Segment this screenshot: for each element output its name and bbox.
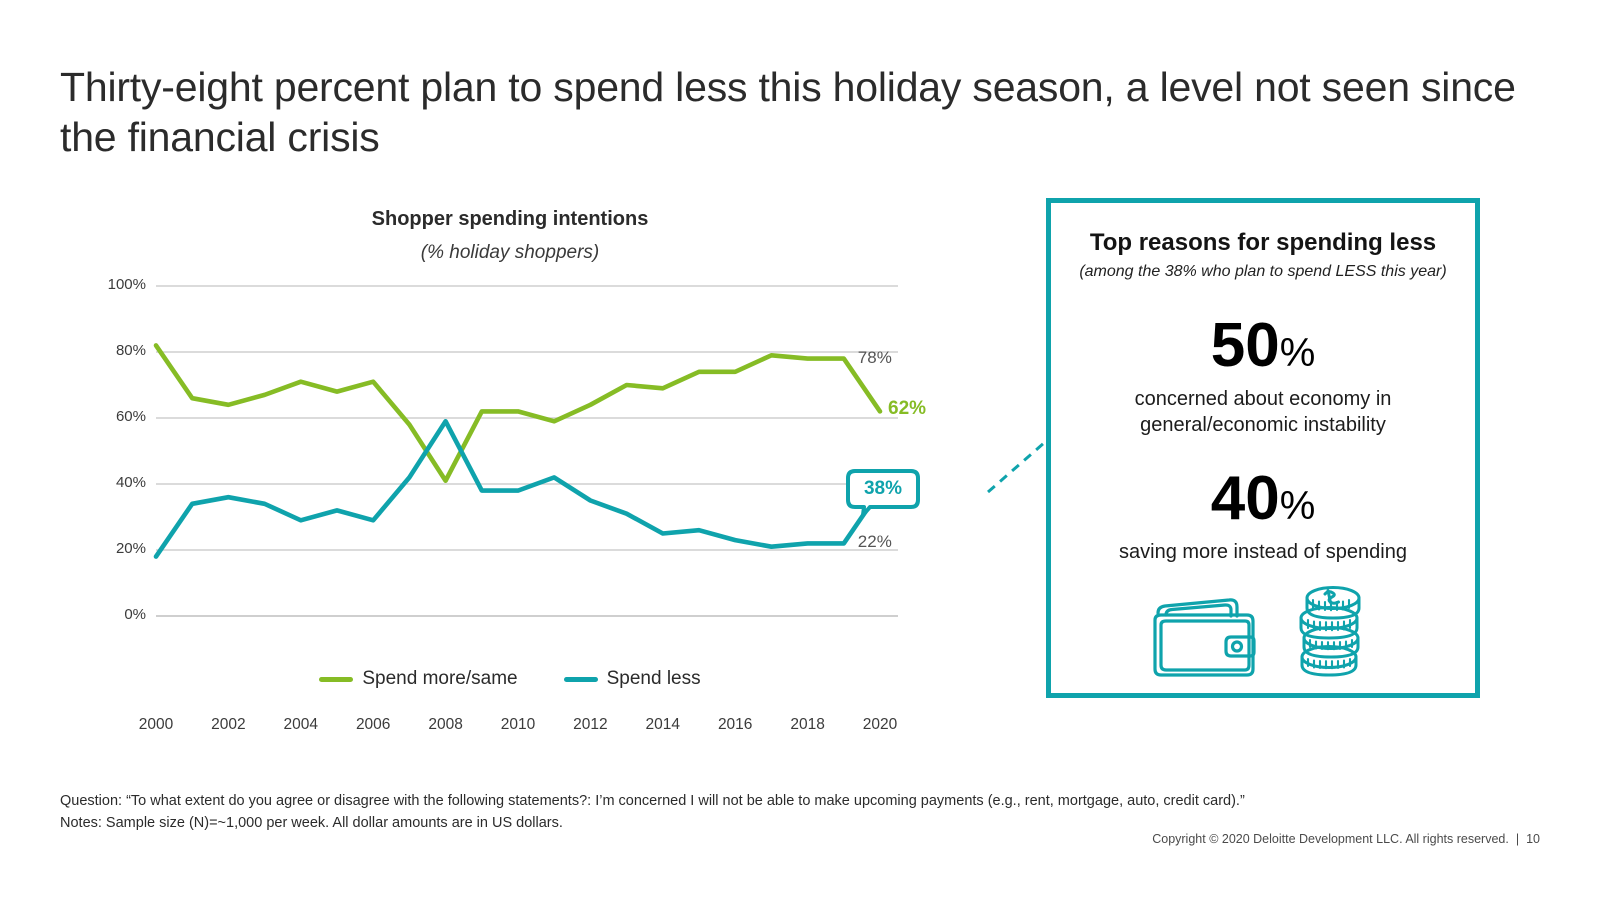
panel-subtitle: (among the 38% who plan to spend LESS th… xyxy=(1051,263,1475,281)
x-tick-2018: 2018 xyxy=(778,716,838,734)
legend-label-spend-less: Spend less xyxy=(607,668,701,690)
x-tick-2020: 2020 xyxy=(850,716,910,734)
chart-gridlines xyxy=(156,286,898,616)
chart-legend: Spend more/same Spend less xyxy=(60,668,960,690)
green-2019-label: 78% xyxy=(858,348,892,368)
copyright-text: Copyright © 2020 Deloitte Development LL… xyxy=(1152,832,1509,846)
legend-item-spend-more-same[interactable]: Spend more/same xyxy=(319,668,517,690)
legend-label-spend-more-same: Spend more/same xyxy=(362,668,517,690)
callout-text: 38% xyxy=(846,478,920,500)
stat-1-percent-sign: % xyxy=(1280,331,1316,376)
teal-2020-callout[interactable]: 38% xyxy=(846,469,920,509)
x-tick-2000: 2000 xyxy=(126,716,186,734)
green-2020-label: 62% xyxy=(888,398,926,420)
line-chart-svg xyxy=(60,278,1010,638)
page-number: 10 xyxy=(1526,832,1540,846)
x-tick-2008: 2008 xyxy=(416,716,476,734)
stat-block-1: 50% concerned about economy in general/e… xyxy=(1051,315,1475,438)
y-tick-40%: 40% xyxy=(84,474,146,491)
copyright-line: Copyright © 2020 Deloitte Development LL… xyxy=(1152,832,1540,846)
footnote-question: Question: “To what extent do you agree o… xyxy=(60,790,1480,812)
stat-block-2: 40% saving more instead of spending xyxy=(1051,468,1475,566)
chart-title: Shopper spending intentions xyxy=(60,208,960,231)
series-line-spend-less[interactable] xyxy=(156,421,880,556)
coin-stack-icon xyxy=(1285,584,1377,680)
stat-2-percent-sign: % xyxy=(1280,484,1316,529)
x-tick-2012: 2012 xyxy=(560,716,620,734)
stat-2-number: 40 xyxy=(1211,468,1280,530)
x-tick-2016: 2016 xyxy=(705,716,765,734)
chart-plot-area: 0%20%40%60%80%100% 200020022004200620082… xyxy=(60,278,1010,638)
series-line-spend-more-same[interactable] xyxy=(156,345,880,480)
legend-swatch-teal xyxy=(564,677,598,682)
chart-subtitle: (% holiday shoppers) xyxy=(60,242,960,264)
footnotes: Question: “To what extent do you agree o… xyxy=(60,790,1480,835)
y-tick-0%: 0% xyxy=(84,606,146,623)
teal-2019-label: 22% xyxy=(858,532,892,552)
y-tick-80%: 80% xyxy=(84,342,146,359)
x-tick-2004: 2004 xyxy=(271,716,331,734)
chart-container: Shopper spending intentions (% holiday s… xyxy=(60,200,1010,720)
y-tick-100%: 100% xyxy=(84,276,146,293)
panel-title: Top reasons for spending less xyxy=(1051,229,1475,257)
page-title: Thirty-eight percent plan to spend less … xyxy=(60,62,1520,162)
stat-1-description: concerned about economy in general/econo… xyxy=(1051,387,1475,438)
slide-root: Thirty-eight percent plan to spend less … xyxy=(0,0,1600,900)
x-tick-2006: 2006 xyxy=(343,716,403,734)
chart-series-layer xyxy=(156,345,880,556)
y-tick-60%: 60% xyxy=(84,408,146,425)
stat-1-number: 50 xyxy=(1211,315,1280,377)
x-tick-2014: 2014 xyxy=(633,716,693,734)
x-tick-2010: 2010 xyxy=(488,716,548,734)
stat-2-description: saving more instead of spending xyxy=(1051,540,1475,566)
top-reasons-panel: Top reasons for spending less (among the… xyxy=(1046,198,1480,698)
wallet-icon xyxy=(1149,594,1261,680)
panel-icon-row xyxy=(1051,584,1475,680)
y-tick-20%: 20% xyxy=(84,540,146,557)
copyright-separator: | xyxy=(1509,832,1526,846)
legend-item-spend-less[interactable]: Spend less xyxy=(564,668,701,690)
x-tick-2002: 2002 xyxy=(198,716,258,734)
legend-swatch-green xyxy=(319,677,353,682)
